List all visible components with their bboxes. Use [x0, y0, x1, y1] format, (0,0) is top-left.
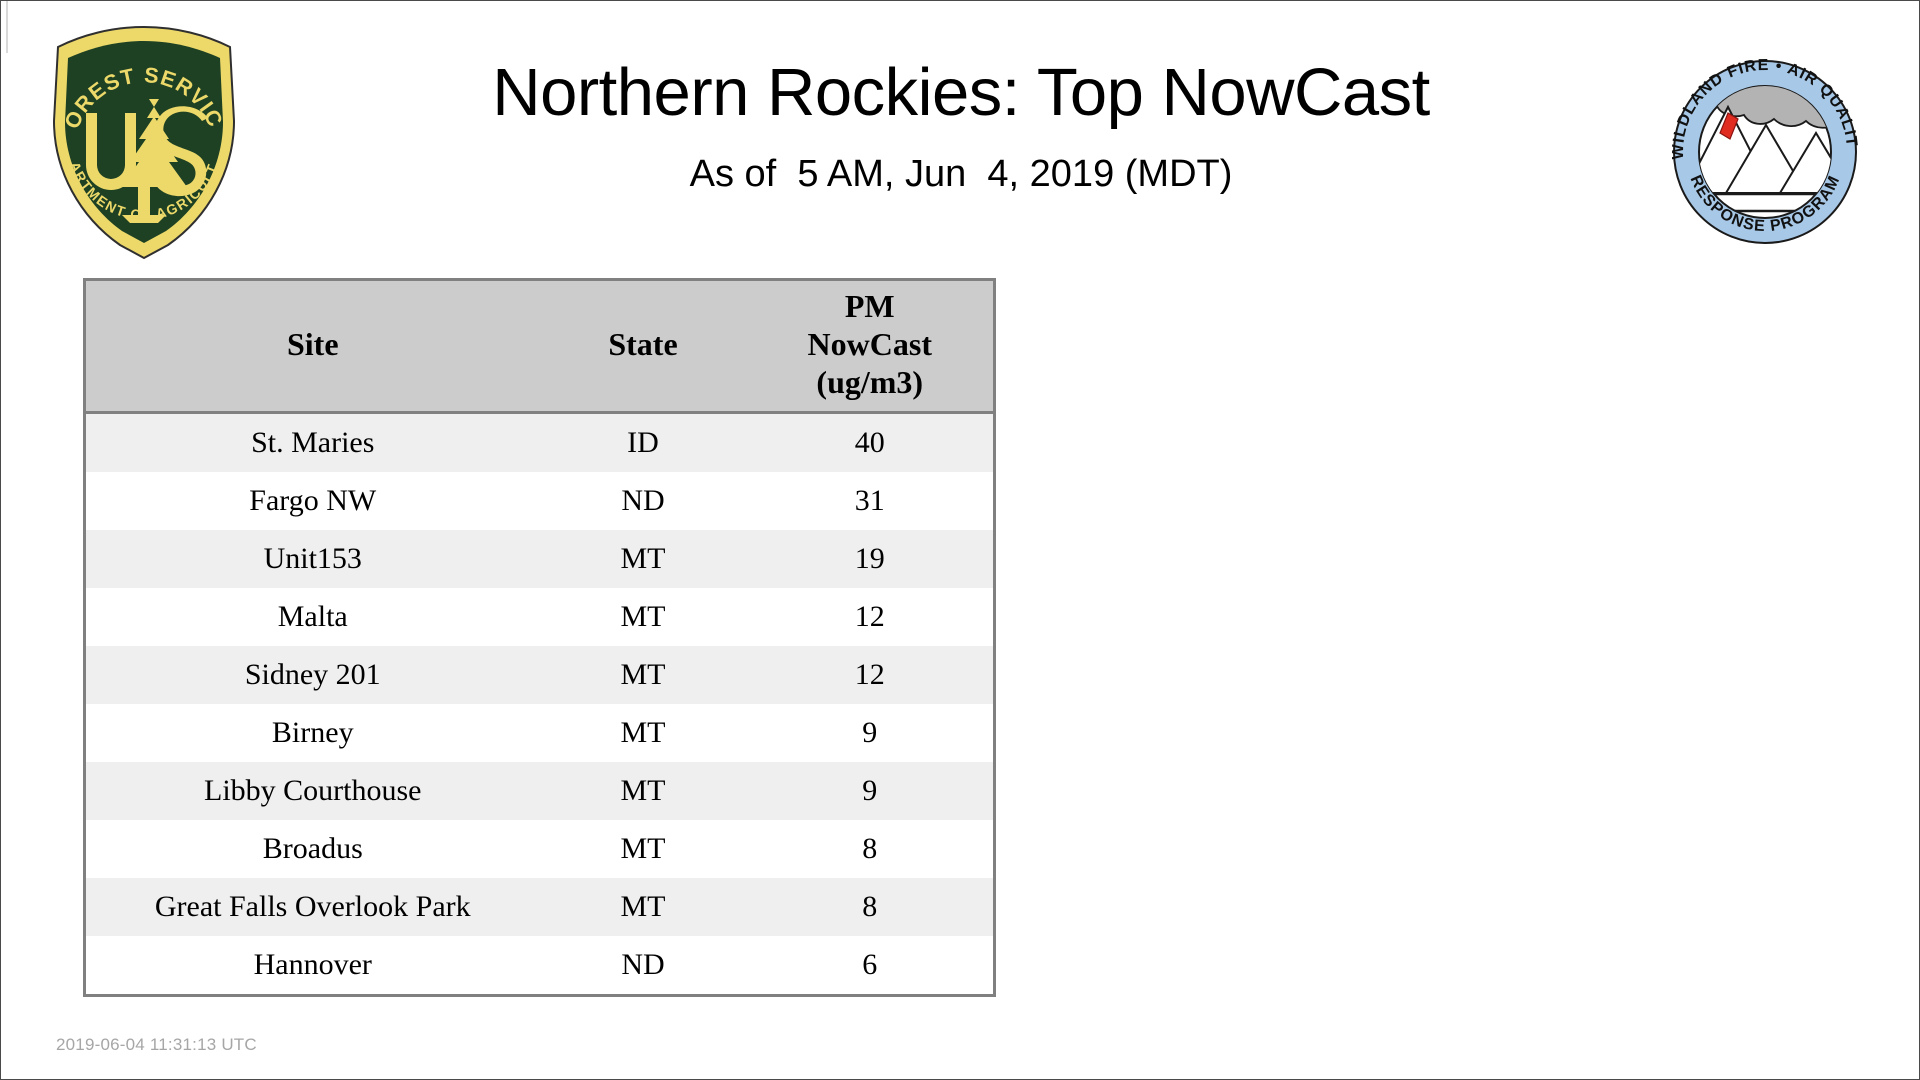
- cell-state: MT: [540, 588, 747, 646]
- cell-state: MT: [540, 820, 747, 878]
- cell-site: Libby Courthouse: [85, 762, 540, 820]
- edge-artifact: [6, 1, 8, 53]
- cell-state: MT: [540, 878, 747, 936]
- nowcast-table-container: Site State PM NowCast (ug/m3) St. Maries…: [83, 278, 993, 997]
- page-title: Northern Rockies: Top NowCast: [261, 55, 1661, 131]
- table-header-row: Site State PM NowCast (ug/m3): [85, 280, 995, 413]
- cell-state: ND: [540, 936, 747, 996]
- cell-site: Malta: [85, 588, 540, 646]
- cell-site: St. Maries: [85, 413, 540, 473]
- cell-state: MT: [540, 646, 747, 704]
- column-header-site: Site: [85, 280, 540, 413]
- table-row: Sidney 201MT12: [85, 646, 995, 704]
- table-row: St. MariesID40: [85, 413, 995, 473]
- cell-state: MT: [540, 530, 747, 588]
- cell-pm-nowcast: 31: [747, 472, 995, 530]
- table-row: HannoverND6: [85, 936, 995, 996]
- cell-site: Unit153: [85, 530, 540, 588]
- table-row: BirneyMT9: [85, 704, 995, 762]
- cell-site: Hannover: [85, 936, 540, 996]
- cell-site: Fargo NW: [85, 472, 540, 530]
- cell-pm-nowcast: 6: [747, 936, 995, 996]
- cell-pm-nowcast: 40: [747, 413, 995, 473]
- page-subtitle-timestamp: As of 5 AM, Jun 4, 2019 (MDT): [261, 151, 1661, 197]
- table-row: BroadusMT8: [85, 820, 995, 878]
- cell-state: ND: [540, 472, 747, 530]
- cell-pm-nowcast: 9: [747, 762, 995, 820]
- cell-site: Broadus: [85, 820, 540, 878]
- wfaqrp-seal-logo: WILDLAND FIRE • AIR QUALITY RESPONSE PRO…: [1656, 43, 1874, 261]
- nowcast-table: Site State PM NowCast (ug/m3) St. Maries…: [83, 278, 996, 997]
- table-row: Unit153MT19: [85, 530, 995, 588]
- cell-pm-nowcast: 12: [747, 646, 995, 704]
- table-body: St. MariesID40Fargo NWND31Unit153MT19Mal…: [85, 413, 995, 996]
- cell-pm-nowcast: 8: [747, 878, 995, 936]
- cell-state: MT: [540, 762, 747, 820]
- cell-pm-nowcast: 12: [747, 588, 995, 646]
- table-row: Libby CourthouseMT9: [85, 762, 995, 820]
- cell-pm-nowcast: 19: [747, 530, 995, 588]
- table-row: MaltaMT12: [85, 588, 995, 646]
- column-header-pm-nowcast: PM NowCast (ug/m3): [747, 280, 995, 413]
- cell-pm-nowcast: 8: [747, 820, 995, 878]
- cell-site: Sidney 201: [85, 646, 540, 704]
- table-header: Site State PM NowCast (ug/m3): [85, 280, 995, 413]
- table-row: Great Falls Overlook ParkMT8: [85, 878, 995, 936]
- generation-timestamp: 2019-06-04 11:31:13 UTC: [56, 1035, 257, 1055]
- cell-state: ID: [540, 413, 747, 473]
- column-header-state: State: [540, 280, 747, 413]
- cell-site: Great Falls Overlook Park: [85, 878, 540, 936]
- slide-canvas: FOREST SERVICE DEPARTMENT OF AGRICULTURE: [0, 0, 1920, 1080]
- cell-state: MT: [540, 704, 747, 762]
- cell-site: Birney: [85, 704, 540, 762]
- cell-pm-nowcast: 9: [747, 704, 995, 762]
- table-row: Fargo NWND31: [85, 472, 995, 530]
- usda-forest-service-shield-logo: FOREST SERVICE DEPARTMENT OF AGRICULTURE: [48, 25, 240, 260]
